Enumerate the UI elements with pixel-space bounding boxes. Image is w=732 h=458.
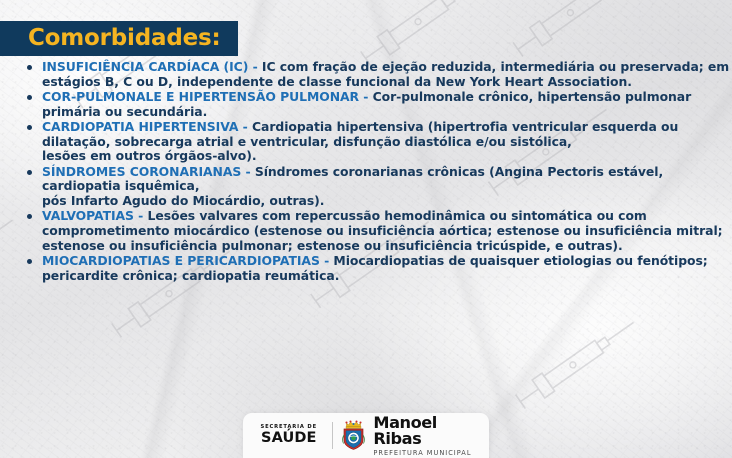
list-item-separator: - <box>238 119 252 134</box>
page-title-banner: Comorbidades: <box>0 21 238 56</box>
list-item: COR-PULMONALE E HIPERTENSÃO PULMONAR - C… <box>0 90 732 119</box>
list-item-term: SÍNDROMES CORONARIANAS <box>42 164 241 179</box>
footer-logo-bar: SECRETARIA DE SAÚDE Manoel Ribas <box>243 413 489 458</box>
list-item: MIOCARDIOPATIAS E PERICARDIOPATIAS - Mio… <box>0 254 732 283</box>
bullet-icon <box>27 214 32 219</box>
city-name: Manoel Ribas <box>373 415 477 447</box>
coat-of-arms-icon <box>341 420 366 451</box>
manoel-ribas-logo: Manoel Ribas PREFEITURA MUNICIPAL <box>373 415 477 457</box>
list-item-text: INSUFICIÊNCIA CARDÍACA (IC) - IC com fra… <box>42 60 732 89</box>
list-item-separator: - <box>134 208 148 223</box>
list-item-text: VALVOPATIAS - Lesões valvares com reperc… <box>42 209 732 253</box>
list-item-term: MIOCARDIOPATIAS E PERICARDIOPATIAS <box>42 253 320 268</box>
list-item: INSUFICIÊNCIA CARDÍACA (IC) - IC com fra… <box>0 60 732 89</box>
city-subtitle: PREFEITURA MUNICIPAL <box>373 450 477 457</box>
bullet-icon <box>27 259 32 264</box>
list-item-text: MIOCARDIOPATIAS E PERICARDIOPATIAS - Mio… <box>42 254 732 283</box>
logo-divider <box>332 422 333 449</box>
comorbidities-list: INSUFICIÊNCIA CARDÍACA (IC) - IC com fra… <box>0 60 732 284</box>
list-item-separator: - <box>320 253 334 268</box>
bullet-icon <box>27 125 32 130</box>
list-item-text: CARDIOPATIA HIPERTENSIVA - Cardiopatia h… <box>42 120 732 164</box>
secretaria-saude-logo: SECRETARIA DE SAÚDE <box>255 425 323 446</box>
list-item-term: COR-PULMONALE E HIPERTENSÃO PULMONAR <box>42 89 359 104</box>
bullet-icon <box>27 65 32 70</box>
bullet-icon <box>27 170 32 175</box>
list-item-term: INSUFICIÊNCIA CARDÍACA (IC) <box>42 59 248 74</box>
list-item-term: VALVOPATIAS <box>42 208 134 223</box>
list-item-term: CARDIOPATIA HIPERTENSIVA <box>42 119 238 134</box>
secretaria-saude-main-label: SAÚDE <box>261 431 316 446</box>
list-item: SÍNDROMES CORONARIANAS - Síndromes coron… <box>0 165 732 209</box>
list-item-text: COR-PULMONALE E HIPERTENSÃO PULMONAR - C… <box>42 90 732 119</box>
list-item: VALVOPATIAS - Lesões valvares com reperc… <box>0 209 732 253</box>
list-item-separator: - <box>248 59 262 74</box>
list-item-text: SÍNDROMES CORONARIANAS - Síndromes coron… <box>42 165 732 209</box>
slide-canvas: Comorbidades: INSUFICIÊNCIA CARDÍACA (IC… <box>0 0 732 458</box>
list-item-separator: - <box>359 89 373 104</box>
bullet-icon <box>27 95 32 100</box>
list-item: CARDIOPATIA HIPERTENSIVA - Cardiopatia h… <box>0 120 732 164</box>
list-item-separator: - <box>241 164 255 179</box>
page-title: Comorbidades: <box>28 27 220 50</box>
